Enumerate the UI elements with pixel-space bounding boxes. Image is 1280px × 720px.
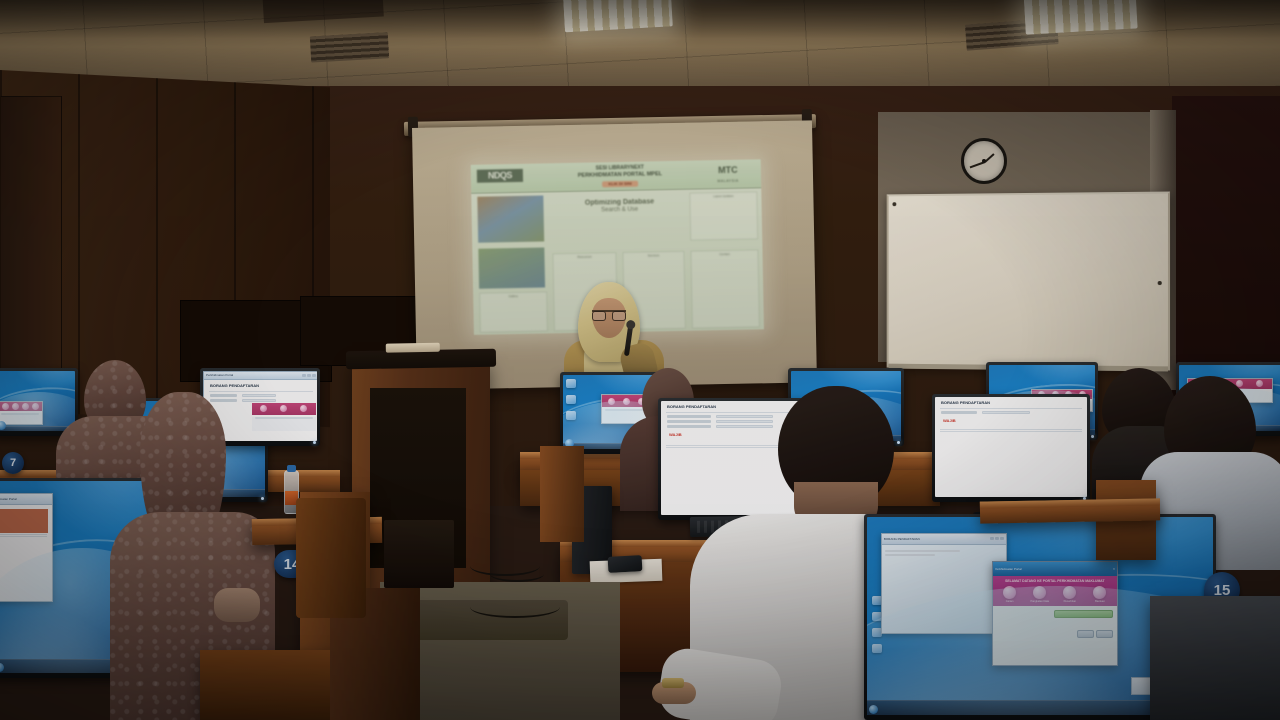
banner-circle-icon bbox=[300, 405, 307, 412]
ceiling-vent-left bbox=[310, 32, 389, 62]
desktop-icon[interactable] bbox=[566, 379, 576, 388]
slide-center-text: Optimizing Database Search & Use bbox=[559, 197, 679, 214]
application-window[interactable]: Perkhidmatan Portal bbox=[0, 493, 53, 603]
dialog-text-line bbox=[1, 413, 39, 415]
minimize-icon[interactable] bbox=[990, 537, 994, 540]
slide-logo-right-text: MTC bbox=[718, 165, 738, 175]
slide-center-sub: Search & Use bbox=[560, 206, 680, 214]
form-field-input[interactable] bbox=[982, 411, 1030, 414]
service-option[interactable]: Bantuan bbox=[1087, 586, 1114, 603]
desk-badge-7-number: 7 bbox=[10, 457, 16, 469]
dialog-banner-heading: SELAMAT DATANG KE PORTAL PERKHIDMATAN MA… bbox=[995, 579, 1116, 586]
window-title-text: BORANG PENDAFTARAN bbox=[884, 537, 920, 541]
slide-right-heading: Latest Updates bbox=[690, 192, 756, 198]
desk-badge-7: 7 bbox=[2, 452, 24, 474]
cable bbox=[490, 566, 544, 582]
slide-logo-right: MTC MALAYSIA bbox=[701, 164, 755, 180]
banner-circle-icon bbox=[2, 403, 9, 410]
service-label: Pangkalan Data bbox=[1026, 600, 1053, 603]
window-divider bbox=[0, 534, 47, 535]
service-portal-dialog[interactable]: Perkhidmatan Portal × SELAMAT DATANG KE … bbox=[992, 561, 1119, 666]
banner-circle-icon bbox=[32, 403, 39, 410]
maximize-icon[interactable] bbox=[307, 374, 311, 377]
bottle-cap bbox=[287, 465, 295, 472]
dialog-body bbox=[993, 606, 1118, 641]
cancel-button[interactable] bbox=[1096, 630, 1113, 638]
desktop-icon[interactable] bbox=[872, 644, 882, 653]
slide-caption: Gallery bbox=[480, 292, 546, 298]
speaker-box bbox=[384, 520, 454, 588]
participant-hand bbox=[214, 588, 260, 622]
dialog-title-text: Perkhidmatan Portal bbox=[995, 567, 1022, 571]
podium-top-surface bbox=[346, 349, 496, 370]
slide-logo-left: NDQS bbox=[477, 169, 523, 183]
banner-circle-icon bbox=[608, 398, 615, 405]
slide-tile: Gallery bbox=[479, 291, 548, 332]
window-controls[interactable] bbox=[302, 374, 316, 377]
slide-thumbnail-image bbox=[477, 195, 544, 242]
close-icon[interactable]: × bbox=[1113, 567, 1115, 571]
slide-title-pill: KLIK DI SINI bbox=[602, 181, 637, 187]
service-option[interactable]: Penerbitan bbox=[1057, 586, 1084, 603]
window-title-text: Perkhidmatan Portal bbox=[0, 497, 17, 501]
service-circle-icon[interactable] bbox=[1033, 586, 1046, 599]
classroom-scene: NDQS SESI LIBRARYNEXT PERKHIDMATAN PORTA… bbox=[0, 0, 1280, 720]
ok-button[interactable] bbox=[1077, 630, 1094, 638]
service-circle-icon[interactable] bbox=[1003, 586, 1016, 599]
explorer-window[interactable]: BORANG PENDAFTARAN bbox=[881, 533, 1008, 634]
slide-caption: Services bbox=[623, 252, 683, 258]
dialog-button-row[interactable] bbox=[1077, 630, 1113, 638]
service-option[interactable]: Carian bbox=[996, 586, 1023, 603]
presenter-glasses bbox=[592, 310, 626, 319]
window-title-text: Perkhidmatan Portal bbox=[206, 373, 233, 377]
close-icon[interactable] bbox=[312, 374, 316, 377]
service-label: Carian bbox=[996, 600, 1023, 603]
wall-clock bbox=[961, 138, 1007, 184]
clock-center-pin bbox=[982, 159, 986, 163]
desktop-icon[interactable] bbox=[872, 628, 882, 637]
slide-logo-right-sub: MALAYSIA bbox=[701, 175, 755, 187]
monitor-power-led bbox=[313, 441, 316, 444]
slide-header-title: SESI LIBRARYNEXT PERKHIDMATAN PORTAL MPE… bbox=[557, 164, 683, 190]
dialog-banner: SELAMAT DATANG KE PORTAL PERKHIDMATAN MA… bbox=[993, 576, 1118, 606]
wristwatch bbox=[662, 678, 684, 688]
dialog-titlebar[interactable]: Perkhidmatan Portal × bbox=[993, 562, 1118, 576]
window-text-line bbox=[885, 550, 960, 552]
start-orb-icon[interactable] bbox=[0, 421, 6, 430]
window-titlebar[interactable]: Perkhidmatan Portal bbox=[204, 372, 317, 380]
window-text-line bbox=[885, 554, 935, 556]
banner-circle-icon bbox=[12, 403, 19, 410]
service-circle-icon[interactable] bbox=[1063, 586, 1076, 599]
window-divider bbox=[0, 536, 47, 537]
dialog-banner bbox=[0, 402, 42, 411]
floor-cable bbox=[470, 596, 560, 618]
chair-back-left bbox=[296, 498, 366, 618]
service-option[interactable]: Pangkalan Data bbox=[1026, 586, 1053, 603]
whiteboard bbox=[887, 192, 1170, 371]
slide-thumbnail-image bbox=[478, 247, 545, 288]
start-orb-icon[interactable] bbox=[869, 705, 878, 714]
podium-nameplate bbox=[386, 343, 440, 353]
whiteboard-mount-dot bbox=[892, 202, 896, 206]
desk-right-partition bbox=[1150, 596, 1280, 720]
slide-right-column: Latest Updates bbox=[689, 191, 758, 240]
desktop-icon[interactable] bbox=[566, 395, 576, 404]
close-icon[interactable] bbox=[1000, 537, 1004, 540]
desktop-icon[interactable] bbox=[889, 612, 899, 621]
banner-circle-icon bbox=[280, 405, 287, 412]
dialog-body bbox=[0, 413, 42, 425]
form-heading: BORANG PENDAFTARAN bbox=[204, 380, 317, 390]
minimize-icon[interactable] bbox=[302, 374, 306, 377]
service-circle-icon[interactable] bbox=[1093, 586, 1106, 599]
window-controls[interactable] bbox=[990, 537, 1004, 540]
desktop-icons[interactable] bbox=[566, 379, 576, 427]
slide-caption: Contact bbox=[691, 250, 757, 256]
window-titlebar[interactable]: BORANG PENDAFTARAN bbox=[882, 534, 1007, 545]
dialog-window-small[interactable] bbox=[0, 401, 43, 425]
desk-right-row bbox=[980, 498, 1160, 523]
dialog-service-circles[interactable]: Carian Pangkalan Data Penerbitan bbox=[995, 586, 1116, 603]
primary-action-button[interactable] bbox=[1054, 610, 1113, 618]
window-titlebar[interactable]: Perkhidmatan Portal bbox=[0, 494, 52, 506]
maximize-icon[interactable] bbox=[995, 537, 999, 540]
wall-far-right-dark bbox=[1172, 96, 1280, 396]
mobile-phone[interactable] bbox=[608, 555, 643, 573]
chair-back-middle bbox=[540, 446, 584, 542]
slide-caption: Resources bbox=[553, 253, 615, 259]
service-label: Bantuan bbox=[1087, 600, 1114, 603]
window-image-block bbox=[0, 509, 48, 533]
desktop-icon[interactable] bbox=[566, 411, 576, 420]
whiteboard-mount-dot bbox=[1158, 281, 1162, 285]
start-orb-icon[interactable] bbox=[0, 663, 4, 672]
slide-title-line2: PERKHIDMATAN PORTAL MPEL bbox=[557, 171, 683, 181]
slide-tile: Contact bbox=[690, 249, 759, 328]
service-label: Penerbitan bbox=[1057, 600, 1084, 603]
banner-circle-icon bbox=[22, 403, 29, 410]
